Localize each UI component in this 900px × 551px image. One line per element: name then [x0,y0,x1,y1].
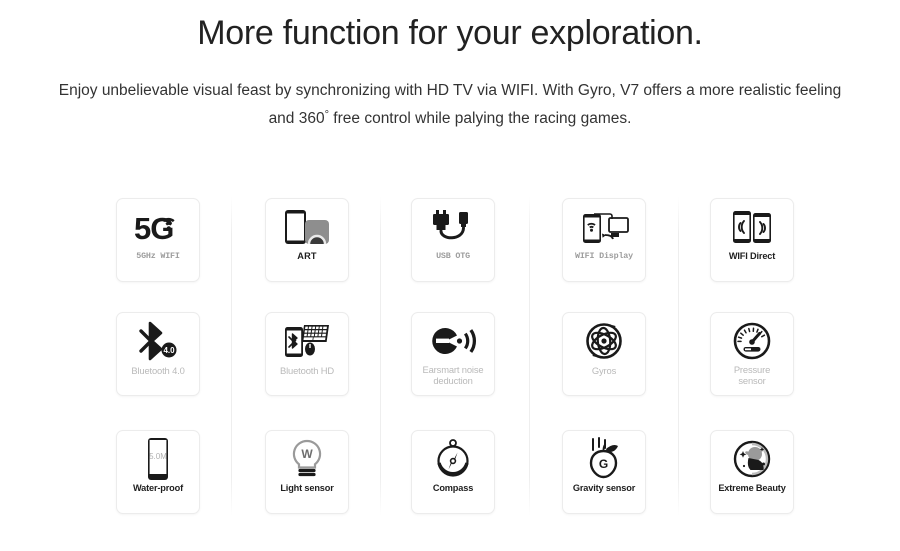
feature-row: 5G 5GHz WIFI [0,198,900,290]
feature-cell-bluetooth-hd[interactable]: Bluetooth HD [265,312,349,396]
feature-label: Gyros [563,365,645,376]
feature-card[interactable]: Pressure sensor [710,312,794,396]
feature-cell-gyros[interactable]: Gyros [562,312,646,396]
feature-cell-wifi-5ghz[interactable]: 5G 5GHz WIFI [116,198,200,282]
feature-cell-usb-otg[interactable]: USB OTG [411,198,495,282]
beauty-face-icon [711,431,793,483]
feature-card[interactable]: W Light sensor [265,430,349,514]
feature-cell-light-sensor[interactable]: W Light sensor [265,430,349,514]
subtitle-line-1: Enjoy unbelievable visual feast by synch… [8,78,892,103]
feature-card[interactable]: Earsmart noise deduction [411,312,495,396]
feature-label: Earsmart noise deduction [412,365,494,386]
feature-card[interactable]: 4.0 Bluetooth 4.0 [116,312,200,396]
light-bulb-icon: W [266,431,348,483]
feature-label: USB OTG [412,251,494,262]
earsmart-noise-icon [412,313,494,365]
wifi-display-icon [563,199,645,251]
feature-card[interactable]: Bluetooth HD [265,312,349,396]
feature-cell-water-proof[interactable]: 5.0M Water-proof [116,430,200,514]
feature-card[interactable]: Extreme Beauty [710,430,794,514]
feature-cell-compass[interactable]: Compass [411,430,495,514]
feature-label: Compass [412,483,494,494]
feature-cell-earsmart[interactable]: Earsmart noise deduction [411,312,495,396]
feature-card[interactable]: G Gravity sensor [562,430,646,514]
gravity-letter: G [599,457,608,471]
feature-label: ART [266,251,348,262]
feature-card[interactable]: Compass [411,430,495,514]
feature-label: Bluetooth 4.0 [117,365,199,376]
subtitle-line-2-after: free control while palying the racing ga… [329,110,631,127]
art-phone-icon [266,199,348,251]
feature-cell-art[interactable]: ART [265,198,349,282]
waterproof-phone-icon: 5.0M [117,431,199,483]
wifi-direct-icon [711,199,793,251]
pressure-gauge-icon [711,313,793,365]
feature-label: Gravity sensor [563,483,645,494]
feature-grid: 5G 5GHz WIFI [0,190,900,530]
compass-icon [412,431,494,483]
page-subtitle: Enjoy unbelievable visual feast by synch… [0,78,900,131]
feature-cell-wifi-direct[interactable]: WIFI Direct [710,198,794,282]
feature-row: 4.0 Bluetooth 4.0 [0,312,900,404]
feature-label: Light sensor [266,483,348,494]
bluetooth-version-badge: 4.0 [163,346,175,355]
gravity-apple-icon: G [563,431,645,483]
feature-row: 5.0M Water-proof W Light [0,430,900,522]
feature-cell-pressure[interactable]: Pressure sensor [710,312,794,396]
feature-label: WIFI Direct [711,251,793,262]
feature-label: Water-proof [117,483,199,494]
feature-card[interactable]: USB OTG [411,198,495,282]
feature-cell-gravity-sensor[interactable]: G Gravity sensor [562,430,646,514]
feature-cell-bluetooth-40[interactable]: 4.0 Bluetooth 4.0 [116,312,200,396]
svg-text:W: W [301,447,313,461]
feature-label: WIFI Display [563,251,645,262]
gyroscope-icon [563,313,645,365]
feature-cell-wifi-display[interactable]: WIFI Display [562,198,646,282]
feature-label: Extreme Beauty [711,483,793,494]
feature-label: Bluetooth HD [266,365,348,376]
feature-cell-extreme-beauty[interactable]: Extreme Beauty [710,430,794,514]
subtitle-line-2-before: and 360 [269,110,325,127]
feature-card[interactable]: ART [265,198,349,282]
page-title: More function for your exploration. [0,12,900,55]
usb-otg-cable-icon [412,199,494,251]
feature-card[interactable]: 5G 5GHz WIFI [116,198,200,282]
subtitle-line-2: and 360° free control while palying the … [8,103,892,131]
feature-label: Pressure sensor [711,365,793,386]
feature-label: 5GHz WIFI [117,251,199,262]
5g-wifi-icon: 5G [117,199,199,251]
page-root: More function for your exploration. Enjo… [0,0,900,551]
bluetooth-40-icon: 4.0 [117,313,199,365]
feature-card[interactable]: WIFI Display [562,198,646,282]
feature-card[interactable]: Gyros [562,312,646,396]
feature-card[interactable]: 5.0M Water-proof [116,430,200,514]
bluetooth-hd-icon [266,313,348,365]
feature-card[interactable]: WIFI Direct [710,198,794,282]
waterproof-depth-label: 5.0M [149,452,167,461]
